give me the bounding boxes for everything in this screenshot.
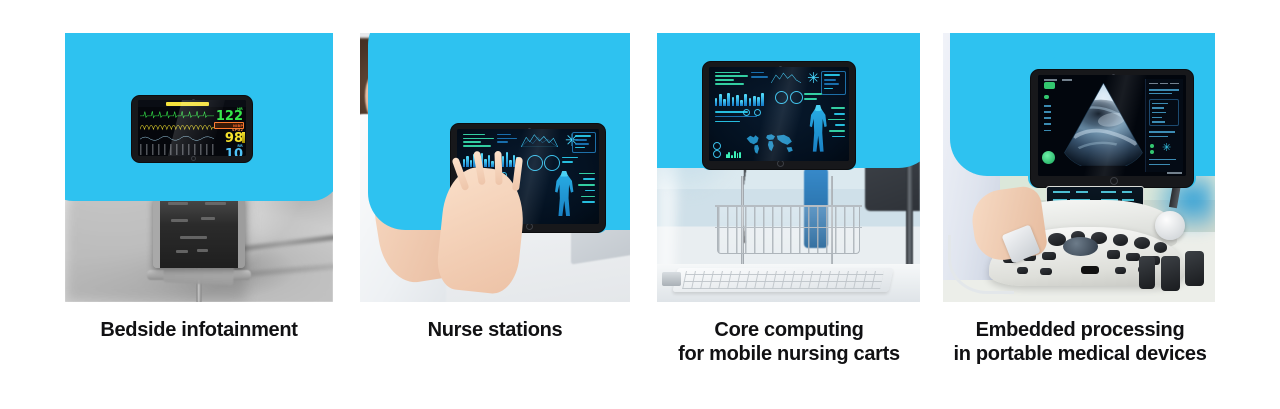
record-indicator[interactable] [1042, 151, 1055, 164]
measurement-panel: ✳ [1145, 79, 1183, 172]
gauge-icon [527, 155, 543, 171]
dashboard-screen[interactable]: ✳ [709, 67, 849, 161]
gain-knob[interactable] [1155, 211, 1185, 241]
feature-image-nurse-stations: ✳ [360, 33, 630, 302]
home-button[interactable] [526, 223, 533, 230]
status-indicator [1044, 82, 1055, 89]
area-chart [521, 132, 558, 147]
home-button[interactable] [191, 156, 196, 161]
info-panel [572, 132, 596, 153]
gauge-icon [775, 91, 788, 104]
coat-pocket [967, 114, 997, 162]
human-body-figure [552, 171, 576, 217]
info-panel [821, 71, 846, 95]
medical-asterisk-icon: ✳ [807, 71, 820, 86]
feature-caption: Nurse stations [345, 319, 645, 343]
status-indicator [1044, 95, 1049, 99]
power-plug [662, 272, 680, 285]
page-root: HR 122 NIBP SPO2 98 RR 10 [0, 0, 1280, 409]
world-map-graphic [744, 131, 797, 155]
feature-image-core-computing: ✳ [657, 33, 920, 302]
feature-caption: Bedside infotainment [45, 319, 353, 343]
gauge-icon [544, 155, 560, 171]
feature-caption: Core computing for mobile nursing carts [645, 319, 933, 366]
medical-asterisk-icon: ✳ [1162, 142, 1171, 153]
human-body-figure [807, 105, 829, 152]
gauge-icon [790, 91, 803, 104]
feature-caption: Embedded processing in portable medical … [925, 319, 1235, 366]
area-chart [771, 71, 802, 83]
keyboard[interactable] [673, 268, 894, 292]
monitor-screen[interactable]: HR 122 NIBP SPO2 98 RR 10 [138, 100, 246, 156]
bar-chart [715, 92, 768, 106]
status-icon [713, 150, 721, 158]
ultrasound-scan-image [1062, 83, 1145, 166]
monitor-module [153, 196, 245, 268]
finger [494, 151, 502, 185]
rr-value: 10 [225, 147, 243, 156]
wire-basket [717, 205, 859, 253]
feature-image-embedded-processing: ✳ [943, 33, 1215, 302]
home-button[interactable] [777, 160, 784, 167]
spo2-bar [242, 132, 245, 143]
status-icon [713, 142, 721, 150]
iv-pole [906, 33, 914, 302]
office-chair [511, 33, 630, 84]
home-button[interactable] [1110, 177, 1118, 185]
ultrasound-screen[interactable]: ✳ [1038, 75, 1186, 176]
sparkline-chart [726, 150, 748, 158]
side-device [865, 81, 889, 167]
bar-chart [463, 152, 523, 167]
feature-image-bedside-infotainment: HR 122 NIBP SPO2 98 RR 10 [65, 33, 333, 302]
office-chair-secondary [452, 33, 517, 68]
